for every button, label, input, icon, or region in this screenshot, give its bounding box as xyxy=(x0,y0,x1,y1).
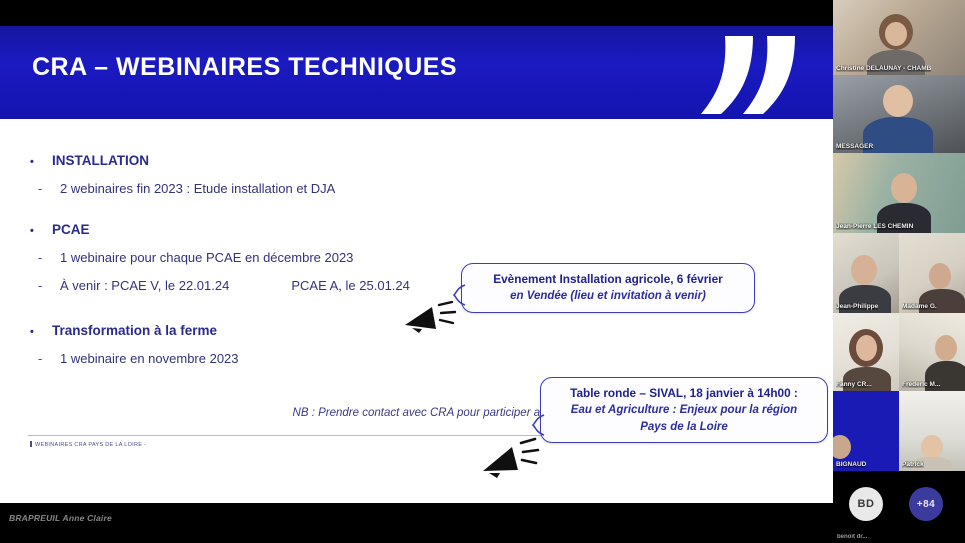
callout-subtitle-line2: Pays de la Loire xyxy=(553,419,815,436)
meeting-screen: CRA – WEBINAIRES TECHNIQUES • INSTALLATI… xyxy=(0,0,965,543)
section-heading: • PCAE xyxy=(30,222,833,237)
callout-subtitle-line1: Eau et Agriculture : Enjeux pour la régi… xyxy=(553,402,815,419)
dash-mark: - xyxy=(38,250,60,265)
participant-name: Jean-Philippe xyxy=(836,303,878,310)
section-heading-label: PCAE xyxy=(52,222,90,237)
participant-name: Frederic M... xyxy=(902,381,940,388)
screen-share-region: CRA – WEBINAIRES TECHNIQUES • INSTALLATI… xyxy=(0,0,833,543)
bullet-mark: • xyxy=(30,326,52,338)
participant-tile[interactable]: MESSAGER xyxy=(833,75,965,153)
dash-mark: - xyxy=(38,181,60,196)
section-item-label: 2 webinaires fin 2023 : Etude installati… xyxy=(60,181,335,196)
presentation-slide: CRA – WEBINAIRES TECHNIQUES • INSTALLATI… xyxy=(0,26,833,503)
section-item: - 2 webinaires fin 2023 : Etude installa… xyxy=(30,181,833,196)
presenter-name-label: BRAPREUIL Anne Claire xyxy=(9,513,112,523)
pcae-v-date: À venir : PCAE V, le 22.01.24 xyxy=(60,278,229,293)
section-item-label: 1 webinaire pour chaque PCAE en décembre… xyxy=(60,250,353,265)
overflow-count-label: +84 xyxy=(917,499,935,510)
participant-tile[interactable]: Christine DELAUNAY - CHAMB xyxy=(833,0,965,75)
participant-row: Jean-Philippe Madame G. xyxy=(833,233,965,313)
participant-tile[interactable]: Madame G. xyxy=(899,233,965,313)
participant-row: Fanny CR... Frederic M... xyxy=(833,313,965,391)
section-heading-label: Transformation à la ferme xyxy=(52,323,217,338)
overflow-participants-badge[interactable]: +84 xyxy=(909,487,943,521)
video-feed xyxy=(833,233,899,313)
section-heading: • INSTALLATION xyxy=(30,153,833,168)
section-item: - 1 webinaire en novembre 2023 xyxy=(30,351,833,366)
callout-title: Table ronde – SIVAL, 18 janvier à 14h00 … xyxy=(553,385,815,402)
callout-subtitle: en Vendée (lieu et invitation à venir) xyxy=(474,288,742,305)
avatar-name-label: benoit dr... xyxy=(837,534,867,540)
participant-name: Fanny CR... xyxy=(836,381,872,388)
video-feed xyxy=(833,391,899,471)
dash-mark: - xyxy=(38,278,60,293)
slide-title: CRA – WEBINAIRES TECHNIQUES xyxy=(32,53,457,82)
megaphone-icon xyxy=(402,301,458,341)
avatar-tile-row[interactable]: BD benoit dr... +84 xyxy=(833,471,965,543)
bullet-mark: • xyxy=(30,225,52,237)
slide-header: CRA – WEBINAIRES TECHNIQUES xyxy=(0,26,833,119)
participant-name: Madame G. xyxy=(902,303,937,310)
participant-filmstrip[interactable]: Christine DELAUNAY - CHAMB MESSAGER Jean… xyxy=(833,0,965,543)
participant-name: Christine DELAUNAY - CHAMB xyxy=(836,65,931,72)
avatar-initials-bd[interactable]: BD xyxy=(849,487,883,521)
section-item-label: 1 webinaire en novembre 2023 xyxy=(60,351,239,366)
participant-name: MESSAGER xyxy=(836,143,873,150)
footnote-bar-icon xyxy=(30,441,32,447)
callout-title: Evènement Installation agricole, 6 févri… xyxy=(474,271,742,288)
video-feed xyxy=(833,75,965,153)
participant-name: Jean-Pierre LES CHEMIN xyxy=(836,223,913,230)
section-installation: • INSTALLATION - 2 webinaires fin 2023 :… xyxy=(0,153,833,196)
participant-tile[interactable]: Frederic M... xyxy=(899,313,965,391)
video-feed xyxy=(833,313,899,391)
slide-footnote: WEBINAIRES CRA PAYS DE LA LOIRE - xyxy=(30,441,146,448)
pcae-a-date: PCAE A, le 25.01.24 xyxy=(291,278,410,293)
callout-event-installation: Evènement Installation agricole, 6 févri… xyxy=(461,263,755,313)
participant-name: BIGNAUD xyxy=(836,461,866,468)
slide-footnote-label: WEBINAIRES CRA PAYS DE LA LOIRE - xyxy=(35,442,146,448)
participant-tile[interactable]: Jean-Pierre LES CHEMIN xyxy=(833,153,965,233)
participant-tile[interactable]: BIGNAUD xyxy=(833,391,899,471)
video-feed xyxy=(833,0,965,75)
participant-tile[interactable]: Patrick xyxy=(899,391,965,471)
section-heading-label: INSTALLATION xyxy=(52,153,149,168)
presenter-name-bar: BRAPREUIL Anne Claire xyxy=(0,503,833,543)
video-feed xyxy=(833,153,965,233)
megaphone-icon xyxy=(480,437,542,481)
participant-row: BIGNAUD Patrick xyxy=(833,391,965,471)
avatar-initials-label: BD xyxy=(858,498,875,510)
dash-mark: - xyxy=(38,351,60,366)
video-feed xyxy=(899,313,965,391)
participant-name: Patrick xyxy=(902,461,924,468)
quote-decoration-icon xyxy=(695,32,805,119)
video-feed xyxy=(899,391,965,471)
participant-tile[interactable]: Jean-Philippe xyxy=(833,233,899,313)
callout-table-ronde: Table ronde – SIVAL, 18 janvier à 14h00 … xyxy=(540,377,828,443)
bullet-mark: • xyxy=(30,156,52,168)
participant-tile[interactable]: Fanny CR... xyxy=(833,313,899,391)
video-feed xyxy=(899,233,965,313)
callout-tail-icon xyxy=(532,414,546,436)
slide-body: • INSTALLATION - 2 webinaires fin 2023 :… xyxy=(0,119,833,503)
